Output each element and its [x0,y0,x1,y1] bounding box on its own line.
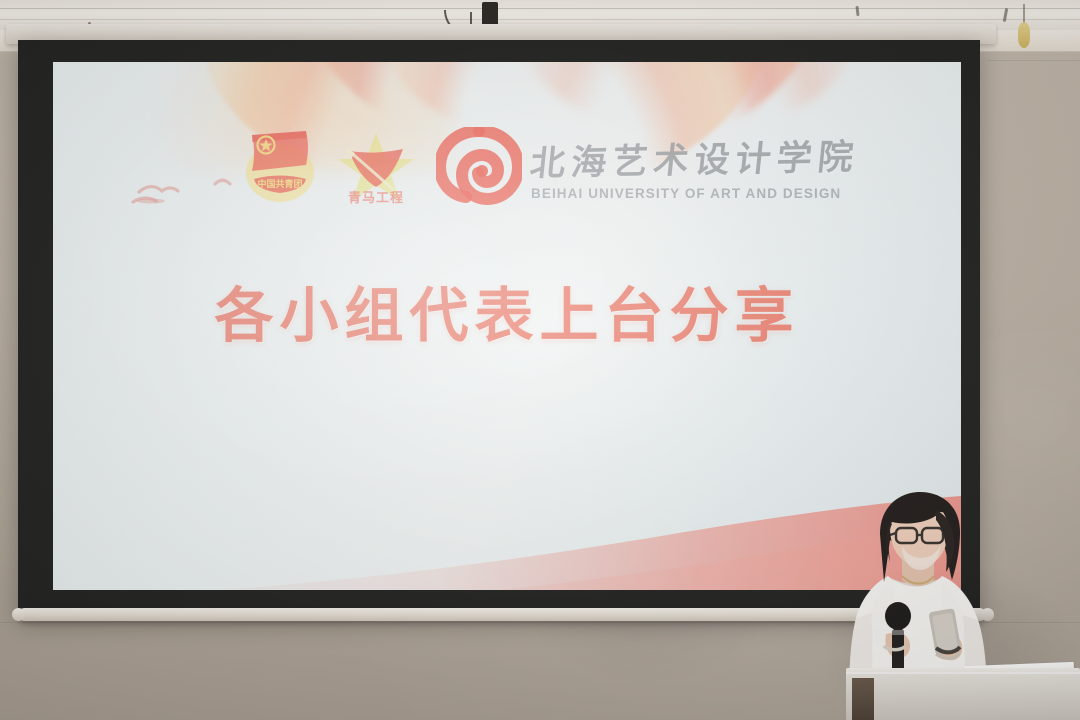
university-name-block: 北海艺术设计学院 BEIHAI UNIVERSITY OF ART AND DE… [531,131,961,201]
podium [846,672,1080,720]
qingma-project-label: 青马工程 [336,187,416,206]
projection-screen-surface: 中国共青团 青马工程 [53,62,961,590]
ceiling-line [0,8,1080,9]
projector-mount-box [482,2,498,26]
classroom-scene: 中国共青团 青马工程 [0,0,1080,720]
screen-pull-tassel[interactable] [1018,22,1030,48]
university-name-en: BEIHAI UNIVERSITY OF ART AND DESIGN [531,186,961,201]
podium-leg [852,678,874,720]
university-name-cn: 北海艺术设计学院 [528,127,961,187]
beihai-university-swirl-logo-icon [436,127,522,207]
ceiling-line [0,19,1080,20]
communist-youth-league-emblem-icon: 中国共青团 [236,125,328,205]
slide-headline: 各小组代表上台分享 [53,268,961,353]
svg-text:中国共青团: 中国共青团 [257,178,302,189]
screen-bar-end-cap [12,608,25,621]
bottom-wave-decoration [53,480,961,590]
wall-seam [988,60,1080,61]
screen-pull-string[interactable] [1023,4,1025,24]
presentation-slide: 中国共青团 青马工程 [53,62,961,590]
logo-lockup: 中国共青团 青马工程 [131,117,891,207]
